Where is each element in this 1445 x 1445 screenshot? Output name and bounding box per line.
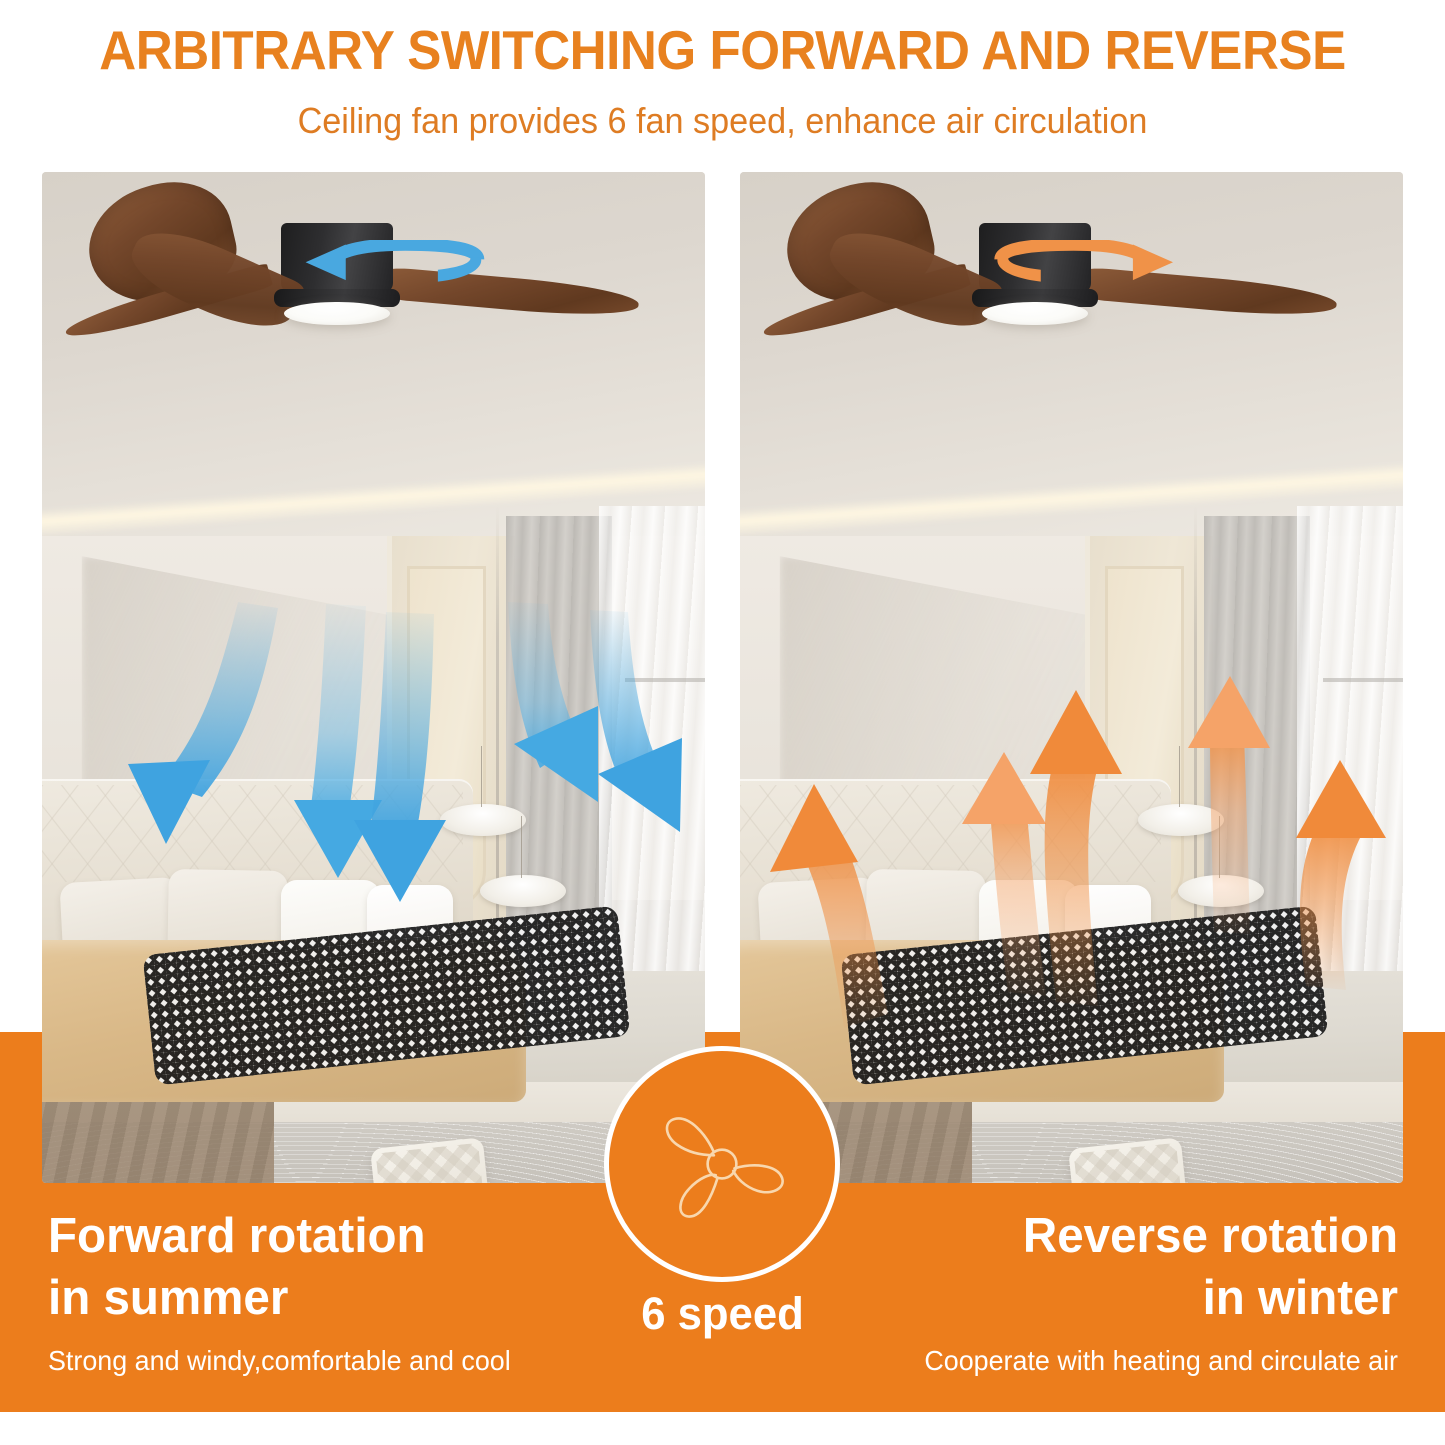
pendant-lamp: [1138, 804, 1224, 836]
rotation-arrow-right-icon: [906, 240, 1271, 299]
left-caption-sub: Strong and windy,comfortable and cool: [48, 1345, 662, 1377]
right-caption-sub: Cooperate with heating and circulate air: [784, 1345, 1398, 1377]
page-title: ARBITRARY SWITCHING FORWARD AND REVERSE: [51, 18, 1395, 82]
infographic-page: ARBITRARY SWITCHING FORWARD AND REVERSE …: [0, 0, 1445, 1445]
window-mullion: [1323, 678, 1403, 682]
speed-badge-circle: [604, 1046, 840, 1282]
pendant-lamp: [480, 875, 566, 907]
left-caption-line1: Forward rotation: [48, 1205, 552, 1267]
pendant-lamp: [1178, 875, 1264, 907]
pendant-lamp: [440, 804, 526, 836]
fan-blades-icon: [647, 1089, 797, 1239]
fan-led-light: [982, 302, 1088, 326]
speed-label: 6 speed: [22, 1288, 1424, 1340]
ceiling-fan-right: [740, 172, 1403, 597]
wood-floor: [42, 1102, 274, 1183]
page-subtitle: Ceiling fan provides 6 fan speed, enhanc…: [36, 100, 1409, 142]
left-panel-forward-rotation: [42, 172, 705, 1183]
ceiling-fan-left: [42, 172, 705, 597]
right-panel-reverse-rotation: [740, 172, 1403, 1183]
right-caption-line1: Reverse rotation: [894, 1205, 1398, 1267]
window-mullion: [625, 678, 705, 682]
fan-led-light: [284, 302, 390, 326]
rotation-arrow-left-icon: [208, 240, 573, 299]
